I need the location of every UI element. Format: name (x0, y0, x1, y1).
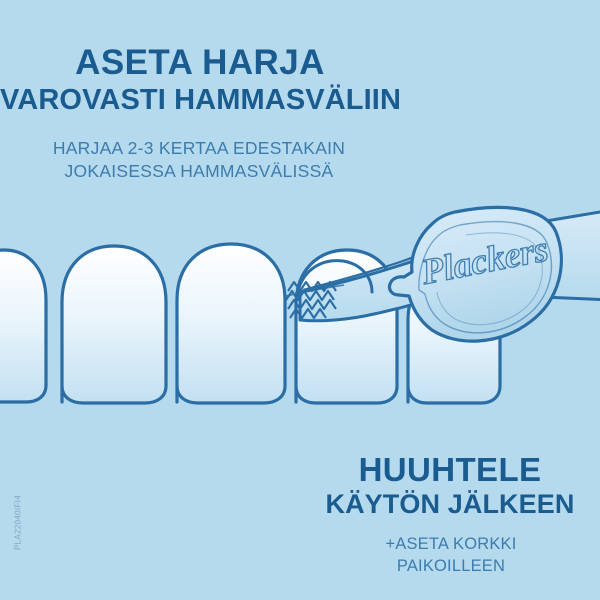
top-subtext-line1: HARJAA 2-3 KERTAA EDESTAKAIN (0, 137, 398, 160)
top-subtext-block: HARJAA 2-3 KERTAA EDESTAKAIN JOKAISESSA … (0, 137, 398, 184)
bottom-subtext-line1: +ASETA KORKKI (302, 534, 600, 556)
bottom-subtext-line2: PAIKOILLEEN (302, 556, 600, 578)
bottom-headline-line1: HUUHTELE (300, 452, 600, 488)
bottom-instruction-block: HUUHTELE KÄYTÖN JÄLKEEN (300, 452, 600, 519)
bottom-headline-line2: KÄYTÖN JÄLKEEN (300, 489, 600, 519)
bottom-subtext-block: +ASETA KORKKI PAIKOILLEEN (302, 534, 600, 578)
top-instruction-block: ASETA HARJA VAROVASTI HAMMASVÄLIIN (0, 44, 400, 116)
top-headline-line2: VAROVASTI HAMMASVÄLIIN (0, 84, 400, 116)
side-reference-code: PLA22040IFI4 (14, 483, 23, 563)
text-layer: ASETA HARJA VAROVASTI HAMMASVÄLIIN HARJA… (0, 0, 600, 600)
instruction-poster: Plackers ASETA HARJA VAROVASTI HAMMASVÄL… (0, 0, 600, 600)
top-headline-line1: ASETA HARJA (0, 44, 400, 82)
top-subtext-line2: JOKAISESSA HAMMASVÄLISSÄ (0, 160, 398, 183)
